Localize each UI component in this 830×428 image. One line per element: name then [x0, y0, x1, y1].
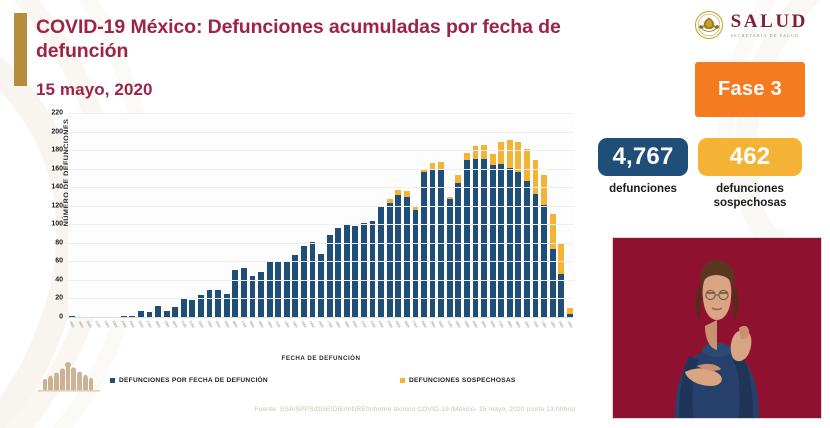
x-tick-label: 20/04	[352, 320, 359, 328]
legend-label-suspected: DEFUNCIONES SOSPECHOSAS	[409, 377, 516, 384]
bar-stack	[455, 175, 461, 318]
x-tick-label: 25/04	[395, 320, 402, 328]
bar-segment-confirmed	[550, 249, 556, 318]
x-tick-label: 08/04	[249, 320, 256, 328]
bar-column	[197, 114, 206, 318]
bar-column	[557, 114, 566, 318]
legend-swatch-confirmed-icon	[110, 378, 115, 383]
bar-column	[514, 114, 523, 318]
bar-stack	[507, 140, 513, 318]
x-tick-label: 04/05	[472, 320, 479, 328]
x-tick-label: 16/04	[318, 320, 325, 328]
bar-column	[222, 114, 231, 318]
bar-column	[523, 114, 532, 318]
bar-segment-confirmed	[250, 276, 256, 318]
x-tick-label: 02/05	[455, 320, 462, 328]
x-tick-label: 21/04	[360, 320, 367, 328]
bar-segment-confirmed	[318, 254, 324, 318]
stat-suspected-deaths: 462 defunciones sospechosas	[698, 138, 802, 210]
bar-column	[445, 114, 454, 318]
page-date: 15 mayo, 2020	[36, 80, 153, 100]
x-tick-label: 19/03	[77, 320, 84, 328]
x-tick-label: 22/04	[369, 320, 376, 328]
legend-swatch-suspected-icon	[400, 378, 405, 383]
x-tick-label: 15/04	[309, 320, 316, 328]
x-tick-label: 20/03	[86, 320, 93, 328]
bar-segment-confirmed	[327, 235, 333, 318]
salud-logo: SALUD SECRETARÍA DE SALUD	[694, 10, 808, 40]
bar-column	[94, 114, 103, 318]
x-tick-label: 03/05	[463, 320, 470, 328]
legend-item-suspected: DEFUNCIONES SOSPECHOSAS	[400, 377, 516, 384]
bar-stack	[481, 145, 487, 318]
y-tick-label: 180	[51, 147, 63, 154]
bar-stack	[387, 199, 393, 318]
x-tick-label: 11/05	[532, 320, 539, 328]
gold-accent-bar	[14, 13, 27, 86]
bar-column	[291, 114, 300, 318]
bar-column	[317, 114, 326, 318]
x-tick-label: 21/03	[94, 320, 101, 328]
bar-segment-confirmed	[515, 172, 521, 319]
bar-column	[154, 114, 163, 318]
y-tick-label: 0	[59, 314, 63, 321]
stat-suspected-pill: 462	[698, 138, 802, 176]
x-tick-label: 10/05	[523, 320, 530, 328]
bar-column	[377, 114, 386, 318]
legend-label-confirmed: DEFUNCIONES POR FECHA DE DEFUNCIÓN	[119, 377, 268, 384]
x-tick-label: 13/05	[549, 320, 556, 328]
x-tick-label: 08/05	[506, 320, 513, 328]
salud-logo-subtitle: SECRETARÍA DE SALUD	[731, 34, 808, 38]
bar-segment-confirmed	[473, 159, 479, 318]
x-tick-label: 27/03	[146, 320, 153, 328]
bar-segment-suspected	[498, 142, 504, 164]
bar-segment-confirmed	[207, 290, 213, 318]
bar-column	[334, 114, 343, 318]
bar-segment-suspected	[533, 160, 539, 193]
x-tick-label: 27/04	[412, 320, 419, 328]
bar-column	[505, 114, 514, 318]
y-tick-label: 220	[51, 110, 63, 117]
x-tick-label: 01/05	[446, 320, 453, 328]
bar-column	[428, 114, 437, 318]
x-tick-label: 23/04	[378, 320, 385, 328]
x-axis-title: FECHA DE DEFUNCIÓN	[68, 355, 574, 362]
bar-stack	[464, 153, 470, 318]
chart-legend: DEFUNCIONES POR FECHA DE DEFUNCIÓN DEFUN…	[110, 377, 530, 384]
bar-stack	[438, 162, 444, 318]
bar-stack	[258, 272, 264, 318]
bar-segment-confirmed	[447, 199, 453, 318]
bar-stack	[370, 221, 376, 318]
x-tick-label: 14/04	[300, 320, 307, 328]
bar-stack	[541, 175, 547, 318]
bar-column	[145, 114, 154, 318]
bar-column	[274, 114, 283, 318]
bar-stack	[490, 154, 496, 318]
bar-stack	[524, 149, 530, 318]
x-tick-label: 03/04	[206, 320, 213, 328]
y-tick-label: 120	[51, 202, 63, 209]
bar-segment-confirmed	[344, 225, 350, 318]
slide-root: COVID-19 México: Defunciones acumuladas …	[0, 0, 830, 428]
bar-segment-suspected	[473, 146, 479, 159]
bar-column	[162, 114, 171, 318]
bar-column	[128, 114, 137, 318]
stat-suspected-label: defunciones sospechosas	[698, 182, 802, 210]
bar-segment-confirmed	[481, 159, 487, 318]
bar-segment-confirmed	[258, 272, 264, 318]
bar-segment-confirmed	[370, 221, 376, 318]
bar-segment-suspected	[524, 149, 530, 181]
gridline-180: 180	[68, 150, 574, 151]
bar-segment-confirmed	[215, 290, 221, 318]
bar-column	[488, 114, 497, 318]
bar-stack	[550, 214, 556, 318]
bar-segment-suspected	[550, 214, 556, 249]
bar-column	[188, 114, 197, 318]
bar-column	[68, 114, 77, 318]
bar-segment-confirmed	[335, 228, 341, 318]
bar-stack	[344, 225, 350, 318]
x-tick-label: 07/04	[240, 320, 247, 328]
gridline-220: 220	[68, 113, 574, 114]
bar-segment-confirmed	[292, 255, 298, 318]
chart-bars	[68, 114, 574, 318]
bar-stack	[241, 268, 247, 318]
bar-segment-confirmed	[361, 223, 367, 319]
x-tick-label: 05/05	[480, 320, 487, 328]
x-tick-label: 02/04	[197, 320, 204, 328]
x-tick-label: 22/03	[103, 320, 110, 328]
bar-column	[214, 114, 223, 318]
bar-stack	[275, 261, 281, 318]
bar-segment-suspected	[481, 145, 487, 159]
gridline-100: 100	[68, 224, 574, 225]
bar-stack	[327, 235, 333, 318]
bar-stack	[421, 170, 427, 318]
bar-segment-confirmed	[241, 268, 247, 318]
bar-segment-suspected	[558, 244, 564, 274]
sign-language-interpreter-video[interactable]	[612, 237, 822, 419]
x-tick-label: 18/04	[335, 320, 342, 328]
bar-column	[102, 114, 111, 318]
bar-stack	[318, 254, 324, 318]
stat-confirmed-label: defunciones	[598, 182, 688, 196]
bar-column	[351, 114, 360, 318]
bar-stack	[533, 160, 539, 318]
bar-segment-suspected	[490, 154, 496, 165]
gridline-200: 200	[68, 132, 574, 133]
bar-column	[420, 114, 429, 318]
x-tick-label: 30/04	[438, 320, 445, 328]
bar-column	[454, 114, 463, 318]
x-tick-label: 26/03	[137, 320, 144, 328]
y-tick-label: 140	[51, 184, 63, 191]
bar-column	[171, 114, 180, 318]
bar-column	[119, 114, 128, 318]
y-tick-label: 20	[55, 295, 63, 302]
bar-segment-confirmed	[421, 172, 427, 319]
bar-column	[385, 114, 394, 318]
bar-segment-confirmed	[404, 197, 410, 318]
y-tick-label: 80	[55, 239, 63, 246]
bar-column	[137, 114, 146, 318]
bar-column	[540, 114, 549, 318]
bar-segment-confirmed	[232, 270, 238, 318]
x-tick-label: 09/05	[515, 320, 522, 328]
bar-stack	[215, 290, 221, 318]
gridline-60: 60	[68, 261, 574, 262]
legend-item-confirmed: DEFUNCIONES POR FECHA DE DEFUNCIÓN	[110, 377, 400, 384]
x-tick-label: 17/04	[326, 320, 333, 328]
gridline-160: 160	[68, 169, 574, 170]
x-tick-label: 24/04	[386, 320, 393, 328]
source-footer: Fuente: SSA/SPPS/DGE/DIE/InDRE/Informe t…	[0, 406, 830, 413]
x-tick-label: 26/04	[403, 320, 410, 328]
bar-column	[240, 114, 249, 318]
bar-segment-suspected	[541, 175, 547, 205]
bar-column	[531, 114, 540, 318]
bar-column	[257, 114, 266, 318]
phase-badge: Fase 3	[695, 62, 805, 117]
bottom-left-watermark-emblem	[36, 360, 102, 394]
bar-column	[463, 114, 472, 318]
gridline-0: 0	[68, 317, 574, 318]
x-tick-label: 19/04	[343, 320, 350, 328]
bar-column	[566, 114, 575, 318]
bar-segment-confirmed	[275, 261, 281, 318]
bar-stack	[189, 300, 195, 318]
bar-column	[394, 114, 403, 318]
bar-segment-suspected	[507, 140, 513, 168]
bar-stack	[232, 270, 238, 318]
x-tick-label: 11/04	[275, 320, 282, 328]
x-tick-label: 28/04	[420, 320, 427, 328]
x-tick-label: 29/04	[429, 320, 436, 328]
chart-plot-area: 020406080100120140160180200220	[68, 114, 574, 318]
bar-segment-confirmed	[464, 160, 470, 318]
y-tick-label: 40	[55, 276, 63, 283]
bar-stack	[361, 223, 367, 319]
x-tick-label: 06/04	[232, 320, 239, 328]
stat-confirmed-deaths: 4,767 defunciones	[598, 138, 688, 196]
bar-segment-confirmed	[189, 300, 195, 318]
bar-stack	[207, 290, 213, 318]
gridline-20: 20	[68, 298, 574, 299]
bar-column	[111, 114, 120, 318]
bar-column	[85, 114, 94, 318]
gridline-40: 40	[68, 280, 574, 281]
bar-column	[471, 114, 480, 318]
bar-stack	[352, 226, 358, 318]
gridline-80: 80	[68, 243, 574, 244]
x-tick-label: 25/03	[129, 320, 136, 328]
x-tick-label: 29/03	[163, 320, 170, 328]
phase-badge-label: Fase 3	[718, 78, 782, 101]
bar-column	[411, 114, 420, 318]
interpreter-figure	[613, 238, 821, 418]
bar-segment-confirmed	[181, 299, 187, 318]
x-tick-label: 13/04	[292, 320, 299, 328]
stat-confirmed-value: 4,767	[612, 143, 673, 171]
bar-column	[368, 114, 377, 318]
x-tick-label: 23/03	[112, 320, 119, 328]
bar-segment-suspected	[515, 142, 521, 172]
bar-stack	[473, 146, 479, 318]
bar-segment-confirmed	[413, 210, 419, 318]
x-tick-label: 14/05	[558, 320, 565, 328]
bar-column	[180, 114, 189, 318]
bar-column	[480, 114, 489, 318]
bar-stack	[250, 276, 256, 318]
x-tick-label: 05/04	[223, 320, 230, 328]
y-tick-label: 200	[51, 128, 63, 135]
bar-column	[308, 114, 317, 318]
bar-stack	[301, 246, 307, 318]
page-title: COVID-19 México: Defunciones acumuladas …	[36, 16, 616, 64]
x-tick-label: 24/03	[120, 320, 127, 328]
x-tick-label: 30/03	[172, 320, 179, 328]
deaths-bar-chart: NÚMERO DE DEFUNCIONES 020406080100120140…	[22, 106, 582, 366]
x-tick-label: 15/05	[566, 320, 573, 328]
x-tick-label: 04/04	[215, 320, 222, 328]
bar-column	[548, 114, 557, 318]
stat-confirmed-pill: 4,767	[598, 138, 688, 176]
salud-logo-word: SALUD	[731, 12, 808, 31]
bar-column	[300, 114, 309, 318]
bar-column	[205, 114, 214, 318]
bar-stack	[447, 197, 453, 318]
x-tick-label: 12/04	[283, 320, 290, 328]
bar-stack	[267, 262, 273, 318]
bar-column	[497, 114, 506, 318]
bar-column	[265, 114, 274, 318]
x-tick-label: 12/05	[541, 320, 548, 328]
bar-stack	[284, 261, 290, 318]
stat-suspected-value: 462	[730, 143, 771, 171]
bar-segment-confirmed	[284, 261, 290, 318]
x-tick-label: 07/05	[498, 320, 505, 328]
x-tick-label: 18/03	[69, 320, 76, 328]
bar-segment-suspected	[455, 175, 461, 182]
x-tick-label: 10/04	[266, 320, 273, 328]
bar-segment-confirmed	[352, 226, 358, 318]
gridline-140: 140	[68, 187, 574, 188]
bar-stack	[292, 255, 298, 318]
y-tick-label: 160	[51, 165, 63, 172]
x-tick-label: 28/03	[155, 320, 162, 328]
bar-stack	[181, 299, 187, 318]
bar-segment-suspected	[464, 153, 470, 160]
bar-segment-confirmed	[267, 262, 273, 318]
x-tick-label: 06/05	[489, 320, 496, 328]
y-tick-label: 100	[51, 221, 63, 228]
bar-column	[282, 114, 291, 318]
bar-column	[77, 114, 86, 318]
x-tick-label: 31/03	[180, 320, 187, 328]
gridline-120: 120	[68, 206, 574, 207]
bar-segment-confirmed	[395, 195, 401, 318]
bar-stack	[335, 228, 341, 318]
bar-column	[403, 114, 412, 318]
y-tick-label: 60	[55, 258, 63, 265]
bar-segment-confirmed	[301, 246, 307, 318]
x-tick-label: 09/04	[257, 320, 264, 328]
bar-column	[343, 114, 352, 318]
mexican-coat-of-arms-icon	[694, 10, 724, 40]
bar-column	[360, 114, 369, 318]
bar-segment-confirmed	[524, 181, 530, 318]
bar-column	[248, 114, 257, 318]
bar-column	[437, 114, 446, 318]
x-tick-label: 01/04	[189, 320, 196, 328]
bar-column	[231, 114, 240, 318]
bar-column	[325, 114, 334, 318]
